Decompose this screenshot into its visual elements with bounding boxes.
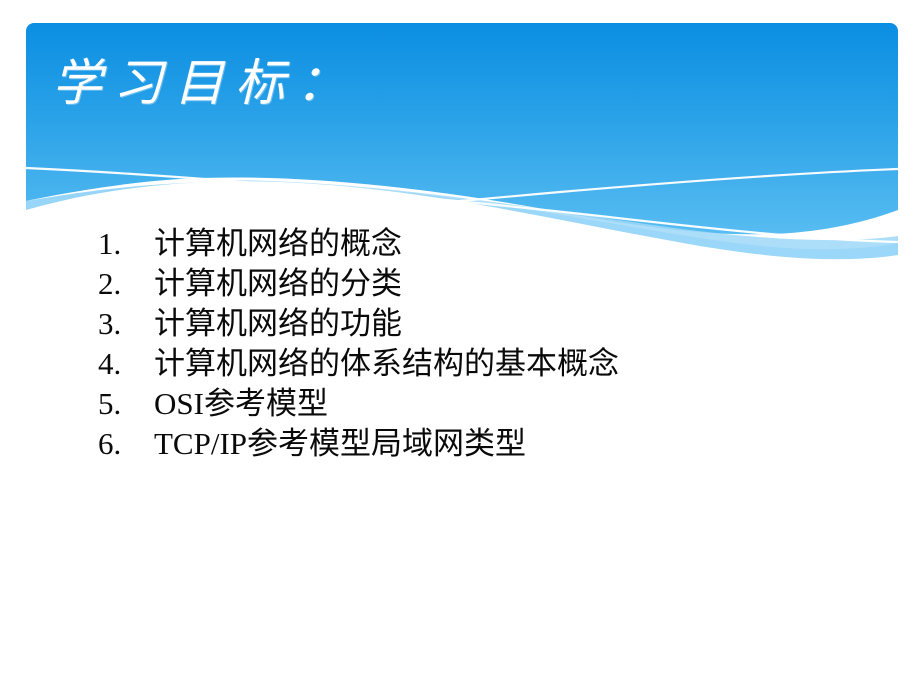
list-item-label: 计算机网络的体系结构的基本概念 <box>154 338 619 383</box>
list-item: 2. 计算机网络的分类 <box>98 258 888 298</box>
list-item-label: OSI参考模型 <box>154 378 328 423</box>
slide-right-margin <box>898 0 920 270</box>
list-item-number: 4. <box>98 346 154 382</box>
list-item-number: 1. <box>98 226 154 262</box>
list-item: 3. 计算机网络的功能 <box>98 298 888 338</box>
objectives-content: 1. 计算机网络的概念 2. 计算机网络的分类 3. 计算机网络的功能 4. 计… <box>98 218 888 458</box>
slide-top-margin <box>0 0 920 23</box>
list-item-label: 计算机网络的功能 <box>154 298 402 343</box>
list-item-label: TCP/IP参考模型局域网类型 <box>154 418 526 463</box>
list-item-label: 计算机网络的分类 <box>154 258 402 303</box>
list-item: 6. TCP/IP参考模型局域网类型 <box>98 418 888 458</box>
slide-left-margin <box>0 0 26 270</box>
list-item: 5. OSI参考模型 <box>98 378 888 418</box>
objectives-list: 1. 计算机网络的概念 2. 计算机网络的分类 3. 计算机网络的功能 4. 计… <box>98 218 888 458</box>
list-item-number: 6. <box>98 426 154 462</box>
list-item-number: 3. <box>98 306 154 342</box>
list-item-number: 2. <box>98 266 154 302</box>
list-item-number: 5. <box>98 386 154 422</box>
page-title: 学习目标： <box>52 57 357 110</box>
list-item: 4. 计算机网络的体系结构的基本概念 <box>98 338 888 378</box>
list-item: 1. 计算机网络的概念 <box>98 218 888 258</box>
list-item-label: 计算机网络的概念 <box>154 218 402 263</box>
presentation-slide: 学习目标： 1. 计算机网络的概念 2. 计算机网络的分类 3. 计算机网络的功… <box>0 0 920 690</box>
